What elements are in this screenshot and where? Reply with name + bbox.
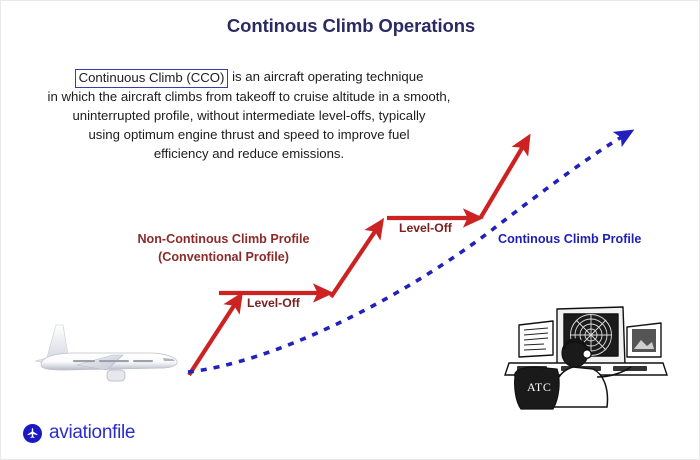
climb-segment-1 — [189, 301, 237, 375]
airliner-icon — [25, 313, 185, 393]
boxed-term: Continuous Climb (CCO) — [75, 69, 229, 88]
noncontinuous-label-line2: (Conventional Profile) — [158, 250, 289, 264]
intro-line2: in which the aircraft climbs from takeof… — [48, 89, 451, 104]
intro-line3: uninterrupted profile, without intermedi… — [72, 108, 425, 123]
page-title: Continous Climb Operations — [1, 15, 700, 37]
cabin-windows — [73, 360, 153, 362]
intro-paragraph: Continuous Climb (CCO) is an aircraft op… — [9, 67, 489, 163]
chair-atc-label: ATC — [527, 380, 551, 394]
atc-controller-icon: ATC — [501, 299, 671, 411]
level-off-label-2: Level-Off — [399, 221, 452, 235]
climb-segment-2 — [331, 227, 378, 297]
engine-nacelle — [107, 370, 125, 381]
intro-line4: using optimum engine thrust and speed to… — [88, 127, 409, 142]
brand-wordmark: aviationfile — [49, 422, 135, 444]
aviationfile-logo[interactable]: aviationfile — [23, 422, 135, 444]
intro-line1-rest: is an aircraft operating technique — [228, 69, 423, 84]
level-off-label-1: Level-Off — [247, 296, 300, 310]
noncontinuous-profile-label: Non-Continous Climb Profile (Conventiona… — [131, 231, 316, 266]
intro-line5: efficiency and reduce emissions. — [154, 146, 344, 161]
headset-earpiece — [583, 350, 591, 358]
airplane-circle-icon — [23, 424, 42, 443]
noncontinuous-label-line1: Non-Continous Climb Profile — [137, 232, 309, 246]
slide-canvas: Continous Climb Operations Continuous Cl… — [0, 0, 700, 460]
continuous-profile-label: Continous Climb Profile — [498, 232, 641, 246]
